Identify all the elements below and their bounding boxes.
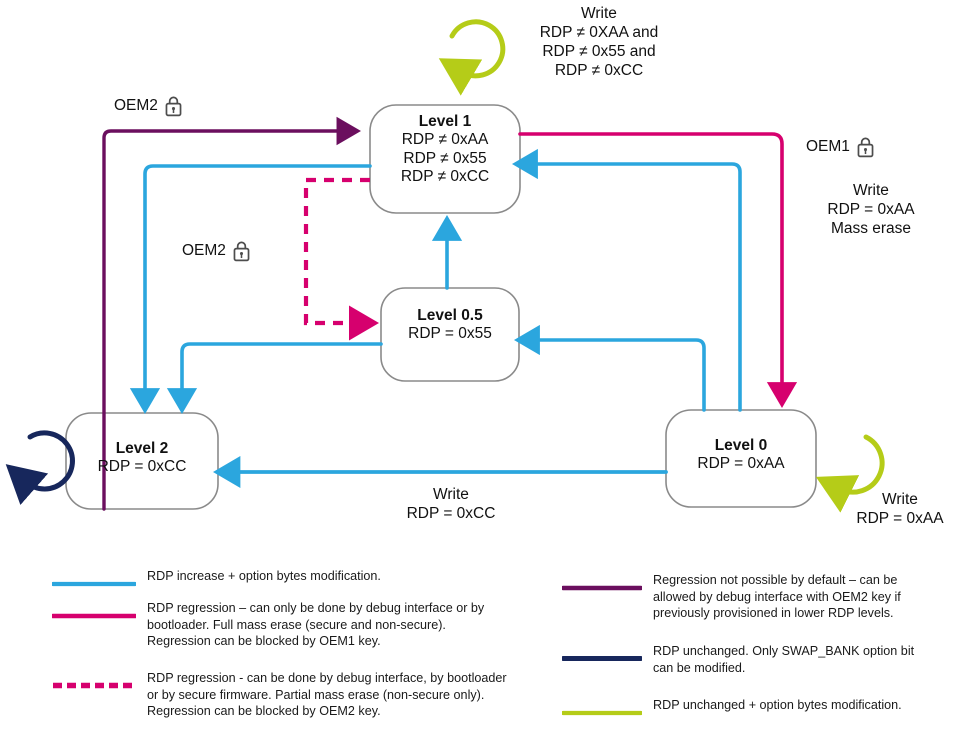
annotation-line: RDP ≠ 0xCC [479, 62, 719, 81]
legend-item-rdp-regression-full: RDP regression – can only be done by deb… [52, 600, 552, 650]
annotation-line: Write [381, 486, 521, 505]
legend-item-rdp-unchanged-option: RDP unchanged + option bytes modificatio… [562, 697, 962, 722]
oem-label: OEM2 [182, 242, 226, 260]
legend-line: or by secure firmware. Partial mass eras… [147, 687, 507, 704]
legend-line: Regression not possible by default – can… [653, 572, 901, 589]
annotation-line: Write [788, 182, 954, 201]
legend-swatch-solid [562, 579, 642, 597]
annotation-oem1-block: Write RDP = 0xAA Mass erase [788, 182, 954, 239]
legend-line: previously provisioned in lower RDP leve… [653, 605, 901, 622]
node-box-level0 [666, 410, 816, 507]
edge-level0-to-level05-blue [532, 340, 704, 410]
legend-item-rdp-unchanged-swap: RDP unchanged. Only SWAP_BANK option bit… [562, 643, 962, 676]
annotation-line: RDP ≠ 0XAA and [479, 24, 719, 43]
legend-text: RDP unchanged. Only SWAP_BANK option bit… [653, 643, 914, 676]
annotation-line: Write [479, 5, 719, 24]
legend-line: RDP increase + option bytes modification… [147, 568, 381, 585]
edge-level1-to-level0-magenta [520, 134, 782, 390]
legend-line: RDP regression – can only be done by deb… [147, 600, 484, 617]
lock-icon [232, 240, 251, 262]
edge-level0-to-level1-blue [530, 164, 740, 410]
legend-text: RDP unchanged + option bytes modificatio… [653, 697, 902, 714]
legend-line: RDP regression - can be done by debug in… [147, 670, 507, 687]
node-box-level05 [381, 288, 519, 381]
annotation-level2-from-level0: Write RDP = 0xCC [381, 486, 521, 524]
legend-swatch-solid [562, 704, 642, 722]
legend-text: RDP regression - can be done by debug in… [147, 670, 507, 720]
legend-line: RDP unchanged. Only SWAP_BANK option bit [653, 643, 914, 660]
oem-badge-oem2-top-left: OEM2 [114, 95, 183, 117]
oem-badge-oem1-right: OEM1 [806, 136, 875, 158]
legend-swatch-solid [562, 650, 642, 668]
oem-label: OEM1 [806, 138, 850, 156]
legend-swatch-solid [52, 575, 136, 593]
legend-item-regression-not-possible: Regression not possible by default – can… [562, 572, 962, 622]
legend-line: Regression can be blocked by OEM2 key. [147, 703, 507, 720]
annotation-line: Mass erase [788, 220, 954, 239]
legend-line: can be modified. [653, 660, 914, 677]
legend-text: Regression not possible by default – can… [653, 572, 901, 622]
node-box-level2 [66, 413, 218, 509]
rdp-state-diagram: Level 1 RDP ≠ 0xAA RDP ≠ 0x55 RDP ≠ 0xCC… [0, 0, 966, 729]
legend-item-rdp-regression-partial: RDP regression - can be done by debug in… [52, 670, 562, 720]
edge-level1-to-level05-magenta-dashed [306, 180, 370, 323]
legend-swatch-dashed [52, 677, 136, 695]
annotation-line: RDP = 0xAA [788, 201, 954, 220]
lock-icon [856, 136, 875, 158]
legend-line: RDP unchanged + option bytes modificatio… [653, 697, 902, 714]
annotation-level1-selfloop: Write RDP ≠ 0XAA and RDP ≠ 0x55 and RDP … [479, 5, 719, 81]
edge-level05-to-level2-blue [182, 344, 381, 396]
node-box-level1 [370, 105, 520, 213]
legend-text: RDP increase + option bytes modification… [147, 568, 381, 585]
lock-icon [164, 95, 183, 117]
annotation-line: RDP = 0xAA [836, 510, 964, 529]
legend-line: bootloader. Full mass erase (secure and … [147, 617, 484, 634]
legend-item-rdp-increase: RDP increase + option bytes modification… [52, 568, 552, 593]
legend-swatch-solid [52, 607, 136, 625]
selfloop-level0-green [840, 437, 882, 492]
annotation-line: RDP = 0xCC [381, 505, 521, 524]
annotation-line: RDP ≠ 0x55 and [479, 43, 719, 62]
legend-text: RDP regression – can only be done by deb… [147, 600, 484, 650]
annotation-level0-selfloop: Write RDP = 0xAA [836, 491, 964, 529]
annotation-line: Write [836, 491, 964, 510]
legend-line: allowed by debug interface with OEM2 key… [653, 589, 901, 606]
legend-line: Regression can be blocked by OEM1 key. [147, 633, 484, 650]
oem-badge-oem2-middle: OEM2 [182, 240, 251, 262]
oem-label: OEM2 [114, 97, 158, 115]
edge-level1-to-level2-blue [145, 166, 370, 396]
